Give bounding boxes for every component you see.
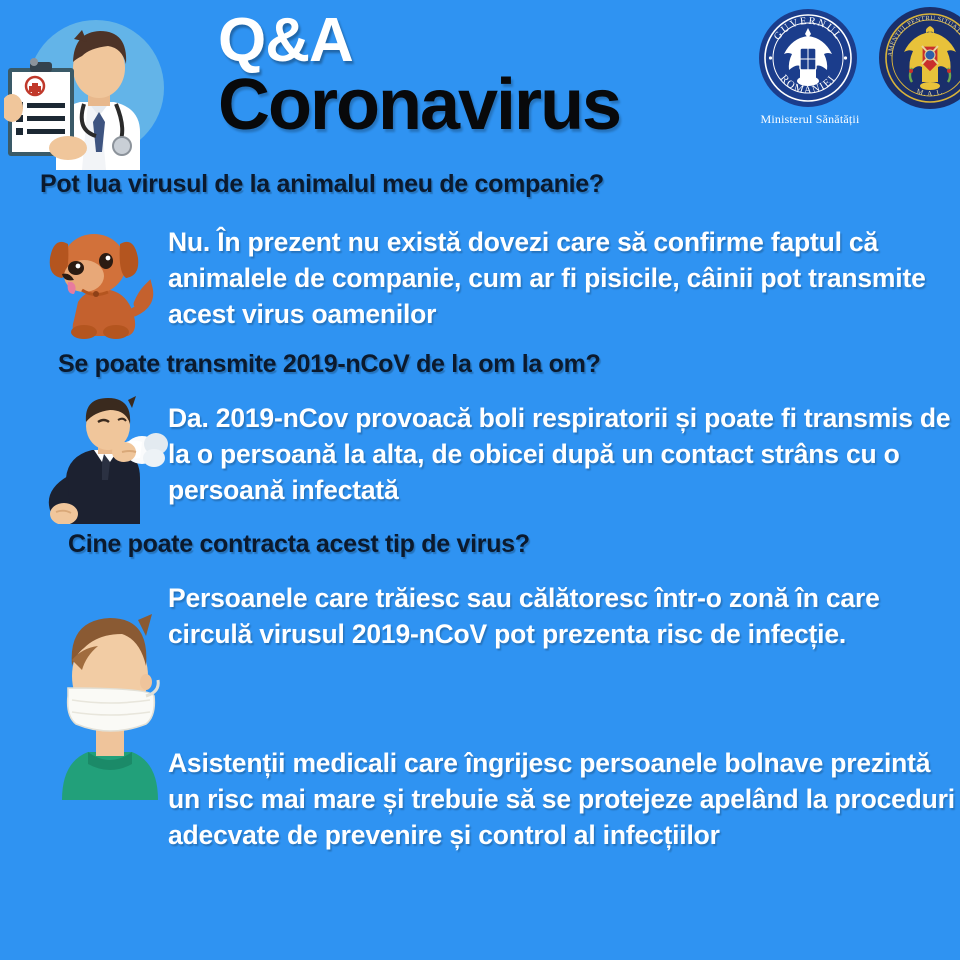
header: Q&A Coronavirus GUVERNUL ROMÂNIEI [0,0,960,170]
guvernul-romaniei-seal-icon: GUVERNUL ROMÂNIEI [758,8,858,108]
answer-3a: Persoanele care trăiesc sau călătoresc î… [168,580,958,652]
answer-3b: Asistenții medicali care îngrijesc perso… [168,745,960,853]
question-1: Pot lua virusul de la animalul meu de co… [40,170,604,199]
coughing-man-illustration [36,392,172,524]
answer-2: Da. 2019-nCov provoacă boli respiratorii… [168,400,958,508]
question-2: Se poate transmite 2019-nCoV de la om la… [58,350,601,379]
departamentul-situatii-urgenta-seal-icon: DEPARTAMENTUL PENTRU SITUAȚII DE URGENȚĂ… [878,6,960,110]
logo-caption-ministerul-sanatatii: Ministerul Sănătății [736,112,884,127]
page-title-coronavirus: Coronavirus [218,68,718,142]
dog-illustration [24,216,160,342]
masked-person-illustration [42,604,178,800]
doctor-with-clipboard-illustration [4,12,176,170]
title-block: Q&A Coronavirus [218,8,718,142]
question-3: Cine poate contracta acest tip de virus? [68,530,530,559]
answer-1: Nu. În prezent nu există dovezi care să … [168,224,958,332]
logo-group: GUVERNUL ROMÂNIEI Ministerul Sănătății [740,4,960,144]
